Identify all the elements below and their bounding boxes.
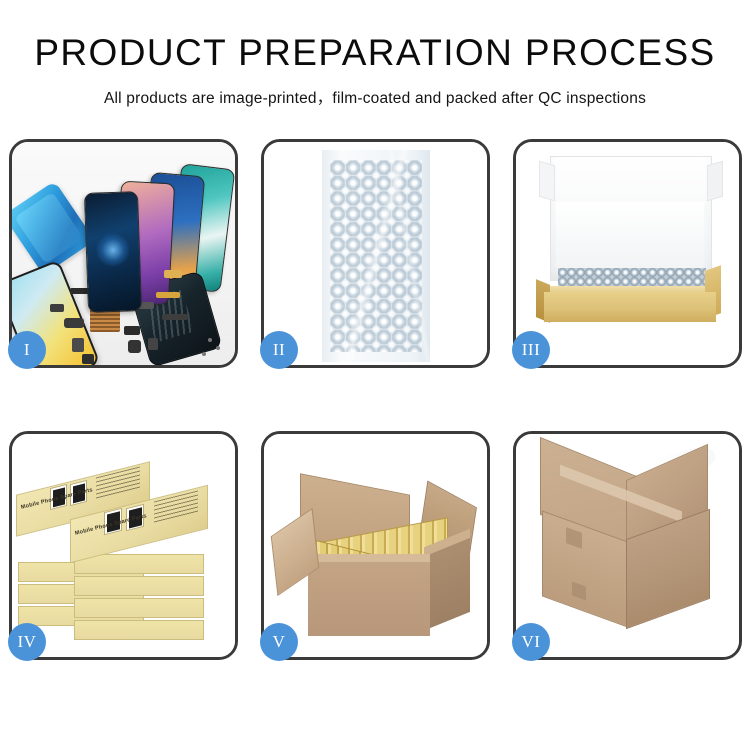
retail-box-body bbox=[74, 620, 204, 640]
step-2-image bbox=[264, 142, 487, 365]
step-badge-2: II bbox=[260, 331, 298, 369]
phone-display-dark-blue bbox=[84, 191, 142, 313]
retail-box-body bbox=[74, 576, 204, 596]
connector-part bbox=[124, 326, 140, 335]
bubble-wrap-fold-highlight bbox=[322, 150, 430, 362]
step-badge-6: VI bbox=[512, 623, 550, 661]
power-button-flex-part bbox=[156, 292, 180, 298]
retail-box-body bbox=[74, 598, 204, 618]
screw-part bbox=[202, 352, 206, 356]
step-panel-1[interactable]: I bbox=[9, 139, 238, 368]
page-subtitle: All products are image-printed，film-coat… bbox=[0, 86, 750, 108]
step-panel-5[interactable]: V bbox=[261, 431, 490, 660]
step-5-image bbox=[264, 434, 487, 657]
page-header: PRODUCT PREPARATION PROCESS All products… bbox=[0, 0, 750, 108]
loudspeaker-part bbox=[148, 338, 158, 350]
step-6-image bbox=[516, 434, 739, 657]
volume-button-flex-part bbox=[164, 270, 182, 278]
step-3-image bbox=[516, 142, 739, 365]
page-title: PRODUCT PREPARATION PROCESS bbox=[0, 34, 750, 73]
step-1-image bbox=[12, 142, 235, 365]
camera-module-part bbox=[72, 338, 84, 352]
flex-cable-part bbox=[64, 318, 84, 328]
screw-part bbox=[208, 338, 212, 342]
screw-part bbox=[216, 346, 220, 350]
charging-port-flex-part bbox=[162, 314, 188, 320]
inner-box-foam bbox=[556, 202, 704, 268]
step-badge-5: V bbox=[260, 623, 298, 661]
step-badge-1: I bbox=[8, 331, 46, 369]
battery-connector-part bbox=[128, 340, 141, 353]
step-4-image: Mobile Phone Spare Parts Mobile Phone Sp… bbox=[12, 434, 235, 657]
step-panel-4[interactable]: Mobile Phone Spare Parts Mobile Phone Sp… bbox=[9, 431, 238, 660]
step-badge-3: III bbox=[512, 331, 550, 369]
retail-box-stack: Mobile Phone Spare Parts Mobile Phone Sp… bbox=[12, 434, 235, 657]
step-panel-2[interactable]: II bbox=[261, 139, 490, 368]
process-steps-grid: I II III bbox=[9, 139, 741, 660]
sim-tray-part bbox=[50, 304, 64, 312]
step-panel-6[interactable]: VI bbox=[513, 431, 742, 660]
inner-box-front bbox=[544, 292, 716, 322]
carton-right-side bbox=[430, 538, 470, 628]
carton-front-face bbox=[308, 562, 430, 636]
bracket-part bbox=[82, 354, 94, 364]
step-badge-4: IV bbox=[8, 623, 46, 661]
step-panel-3[interactable]: III bbox=[513, 139, 742, 368]
